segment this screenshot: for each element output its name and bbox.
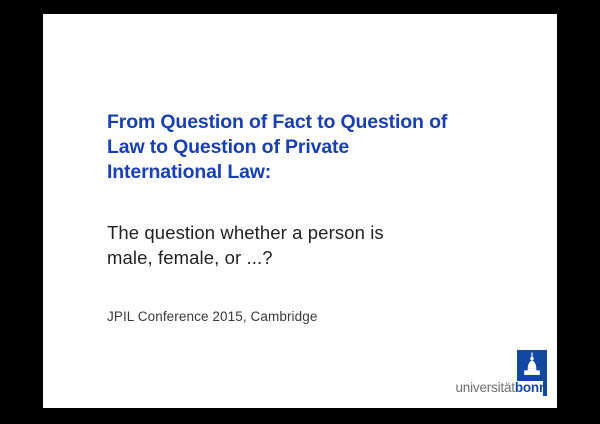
- bonn-palace-building-icon: [517, 350, 547, 381]
- subtitle-line-2: male, female, or ...?: [107, 245, 507, 270]
- logo-word-universitaet: universität: [455, 380, 514, 395]
- event-info: JPIL Conference 2015, Cambridge: [107, 308, 317, 326]
- logo-word-bonn: bonn: [515, 380, 547, 395]
- presentation-slide: From Question of Fact to Question of Law…: [43, 14, 557, 408]
- title-line-3: International Law:: [107, 160, 507, 185]
- subtitle-line-1: The question whether a person is: [107, 220, 507, 245]
- title-line-1: From Question of Fact to Question of: [107, 110, 507, 135]
- title-line-2: Law to Question of Private: [107, 135, 507, 160]
- slide-subtitle: The question whether a person is male, f…: [107, 220, 507, 270]
- logo-wordmark: universitätbonn: [443, 380, 547, 396]
- slide-title: From Question of Fact to Question of Law…: [107, 110, 507, 185]
- university-bonn-logo: universitätbonn: [443, 350, 547, 396]
- slide-frame: From Question of Fact to Question of Law…: [0, 0, 600, 424]
